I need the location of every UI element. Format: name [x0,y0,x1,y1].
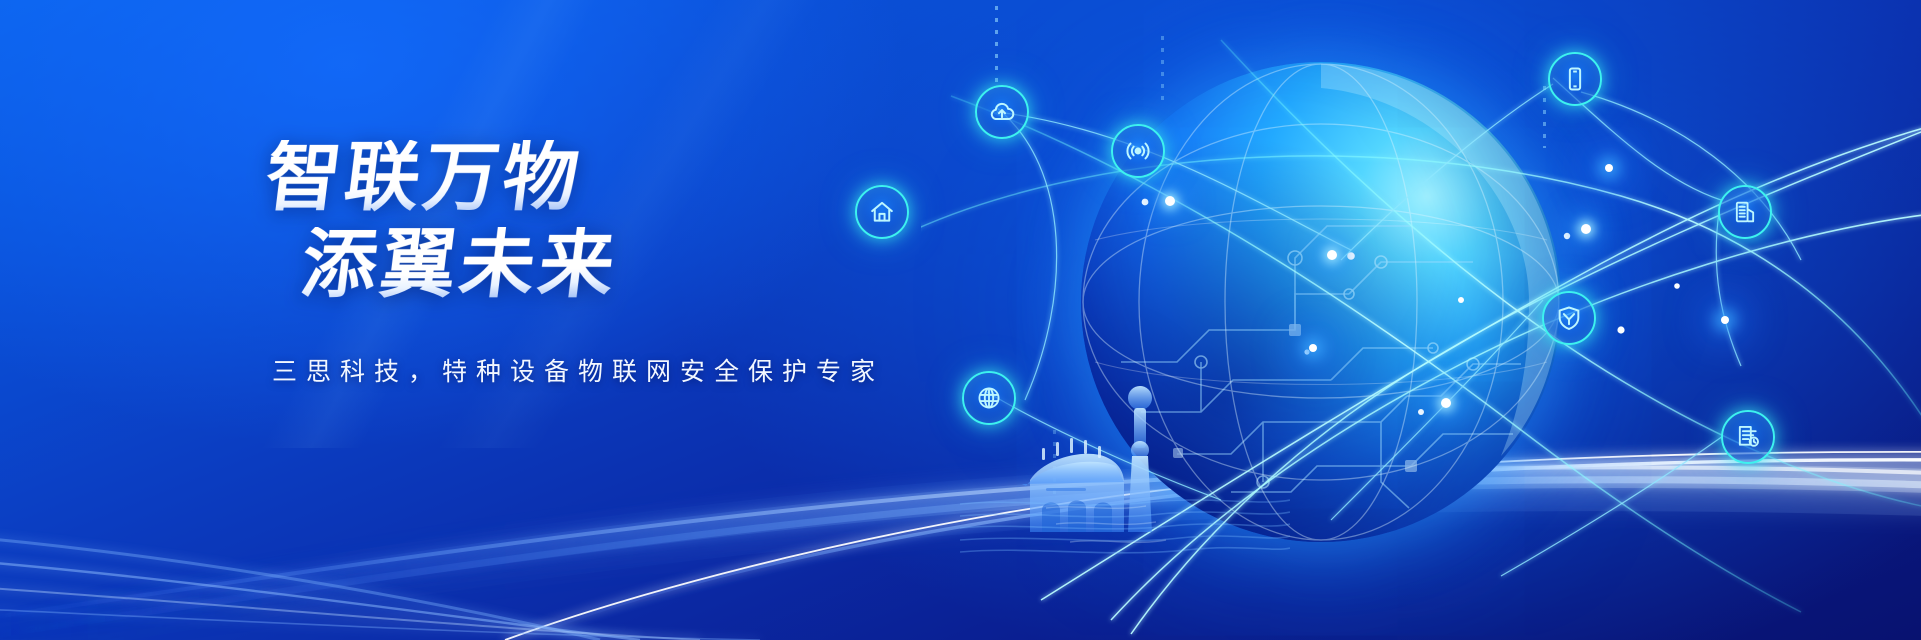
node-glow-dot [1327,250,1337,260]
globe-network-icon[interactable] [962,371,1016,425]
home-icon[interactable] [855,185,909,239]
cloud-upload-icon[interactable] [975,85,1029,139]
node-glow-dot [1721,316,1729,324]
data-stream [1053,430,1056,500]
hero-banner: 智联万物 添翼未来 三思科技，特种设备物联网安全保护专家 [0,0,1921,640]
smartphone-icon[interactable] [1548,52,1602,106]
copy-block: 智联万物 添翼未来 三思科技，特种设备物联网安全保护专家 [252,140,972,388]
data-stream [995,0,998,90]
node-glow-dot [1581,224,1591,234]
subtitle: 三思科技，特种设备物联网安全保护专家 [272,352,972,388]
node-glow-dot [1309,344,1317,352]
node-glow-dot [1441,398,1451,408]
node-glow-dot [1605,164,1613,172]
factory-building-icon[interactable] [1718,185,1772,239]
globe-scene [921,0,1921,640]
shield-icon[interactable] [1542,291,1596,345]
wifi-signal-icon[interactable] [1111,124,1165,178]
node-glow-dot [1165,196,1175,206]
report-document-icon[interactable] [1721,410,1775,464]
